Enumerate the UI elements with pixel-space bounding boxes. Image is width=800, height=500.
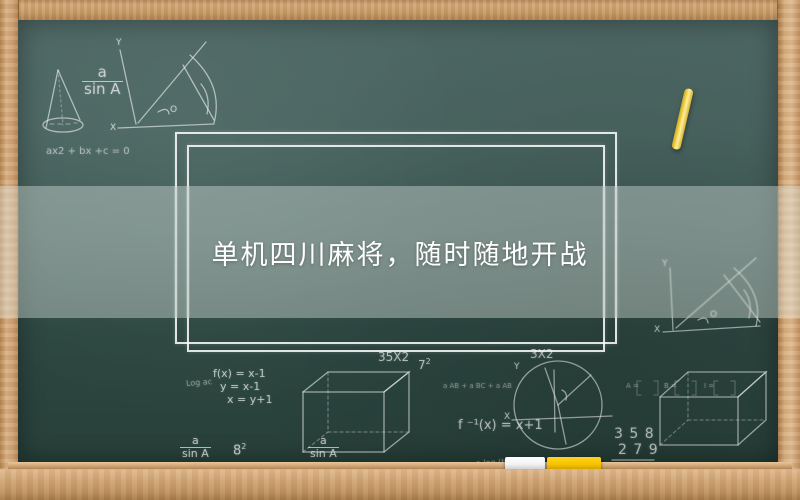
- center-cube-hidden-edge: [303, 432, 328, 452]
- br-radius-1: [545, 368, 558, 405]
- br-division-row2: 2 7 9: [618, 442, 659, 458]
- cone-base-ellipse: [43, 118, 83, 132]
- br-matrix-i-label: I =: [704, 382, 714, 390]
- tl-ray-2: [183, 65, 214, 120]
- br-cube-right: [738, 372, 766, 445]
- br-division-row1: 3 5 8: [614, 426, 655, 442]
- tl-big-arc: [190, 55, 216, 123]
- tl-quadratic: ax2 + bx +c = 0: [46, 146, 130, 157]
- tl-sine-rule: a sin A: [82, 65, 123, 98]
- br-axis-x-label: X: [504, 412, 510, 422]
- cone-right-edge: [58, 70, 80, 120]
- br-radius-3: [558, 405, 566, 444]
- page-title: 单机四川麻将，随时随地开战: [0, 186, 800, 318]
- br-circle-axis-y: [554, 370, 555, 432]
- center-cube-front: [303, 392, 384, 452]
- br-log-ac: Log ac: [186, 377, 213, 388]
- center-power-seven-exp: 2: [426, 357, 431, 366]
- center-sine-rule-left: a sin A: [180, 435, 211, 459]
- center-fn-line2: y = x-1: [220, 380, 272, 393]
- tl-axis-y-label: Y: [116, 38, 122, 48]
- br-label-35x2: 35X2: [378, 350, 409, 364]
- br-inverse-fn: f ⁻¹(x) = x+1: [458, 418, 543, 433]
- br-unit-circle: [514, 361, 602, 449]
- br-axis-y-label: Y: [514, 362, 520, 372]
- frame-top-rail: [0, 0, 800, 21]
- cone-base-ticks: [50, 123, 77, 124]
- center-sine-num-left: a: [180, 435, 211, 448]
- cone-axis: [58, 70, 63, 125]
- rm-axis-x-label: X: [654, 325, 660, 335]
- br-cube-front: [660, 397, 738, 445]
- tl-angle-label: O: [170, 105, 177, 115]
- tl-sine-num: a: [82, 65, 123, 82]
- center-fn-line3: x = y+1: [227, 393, 272, 406]
- center-ab-bc: a AB + a BC + a AB: [443, 382, 512, 390]
- tl-angle-arc: [158, 109, 169, 114]
- br-matrix-b-label: B =: [664, 382, 677, 390]
- br-angle-arc: [562, 390, 567, 400]
- center-cube-hidden: [328, 372, 409, 432]
- center-power-eight: 82: [233, 442, 246, 458]
- tl-axis-y: [120, 50, 136, 124]
- center-function-lines: f(x) = x-1 y = x-1 x = y+1: [213, 367, 272, 406]
- br-radius-2: [558, 375, 591, 405]
- matrix-bracket-a: [637, 381, 658, 395]
- chalkboard-banner: Y X O a sin A ax2 + bx +c = 0 f(x) = x-1…: [0, 0, 800, 500]
- center-sine-den-left: sin A: [180, 448, 211, 460]
- center-cube-top: [303, 372, 409, 392]
- tl-ray: [138, 42, 206, 123]
- rm-axis-x: [663, 326, 760, 332]
- center-fn-line1: f(x) = x-1: [213, 367, 272, 380]
- br-circle-axis-x: [512, 416, 612, 420]
- br-cube-hidden: [688, 372, 766, 420]
- center-power-eight-exp: 2: [241, 442, 246, 451]
- tl-axis-x: [118, 124, 214, 128]
- br-cube-hidden-edge: [660, 420, 688, 445]
- center-sine-den-right: sin A: [308, 448, 339, 460]
- cone-left-edge: [46, 70, 58, 128]
- matrix-bracket-i: [714, 381, 735, 395]
- rm-angle-arc: [698, 318, 708, 323]
- center-sine-num-right: a: [308, 435, 339, 448]
- center-power-seven: 72: [418, 357, 431, 372]
- br-cube-top: [660, 372, 766, 397]
- center-cube-right: [384, 372, 409, 452]
- tl-sine-den: sin A: [82, 82, 123, 98]
- tl-axis-x-label: X: [110, 123, 116, 133]
- center-sine-rule-right: a sin A: [308, 435, 339, 459]
- br-matrix-a-label: A =: [626, 382, 639, 390]
- matrix-bracket-b: [675, 381, 696, 395]
- tl-small-arc: [201, 84, 208, 114]
- frame-bottom-rail: [0, 469, 800, 500]
